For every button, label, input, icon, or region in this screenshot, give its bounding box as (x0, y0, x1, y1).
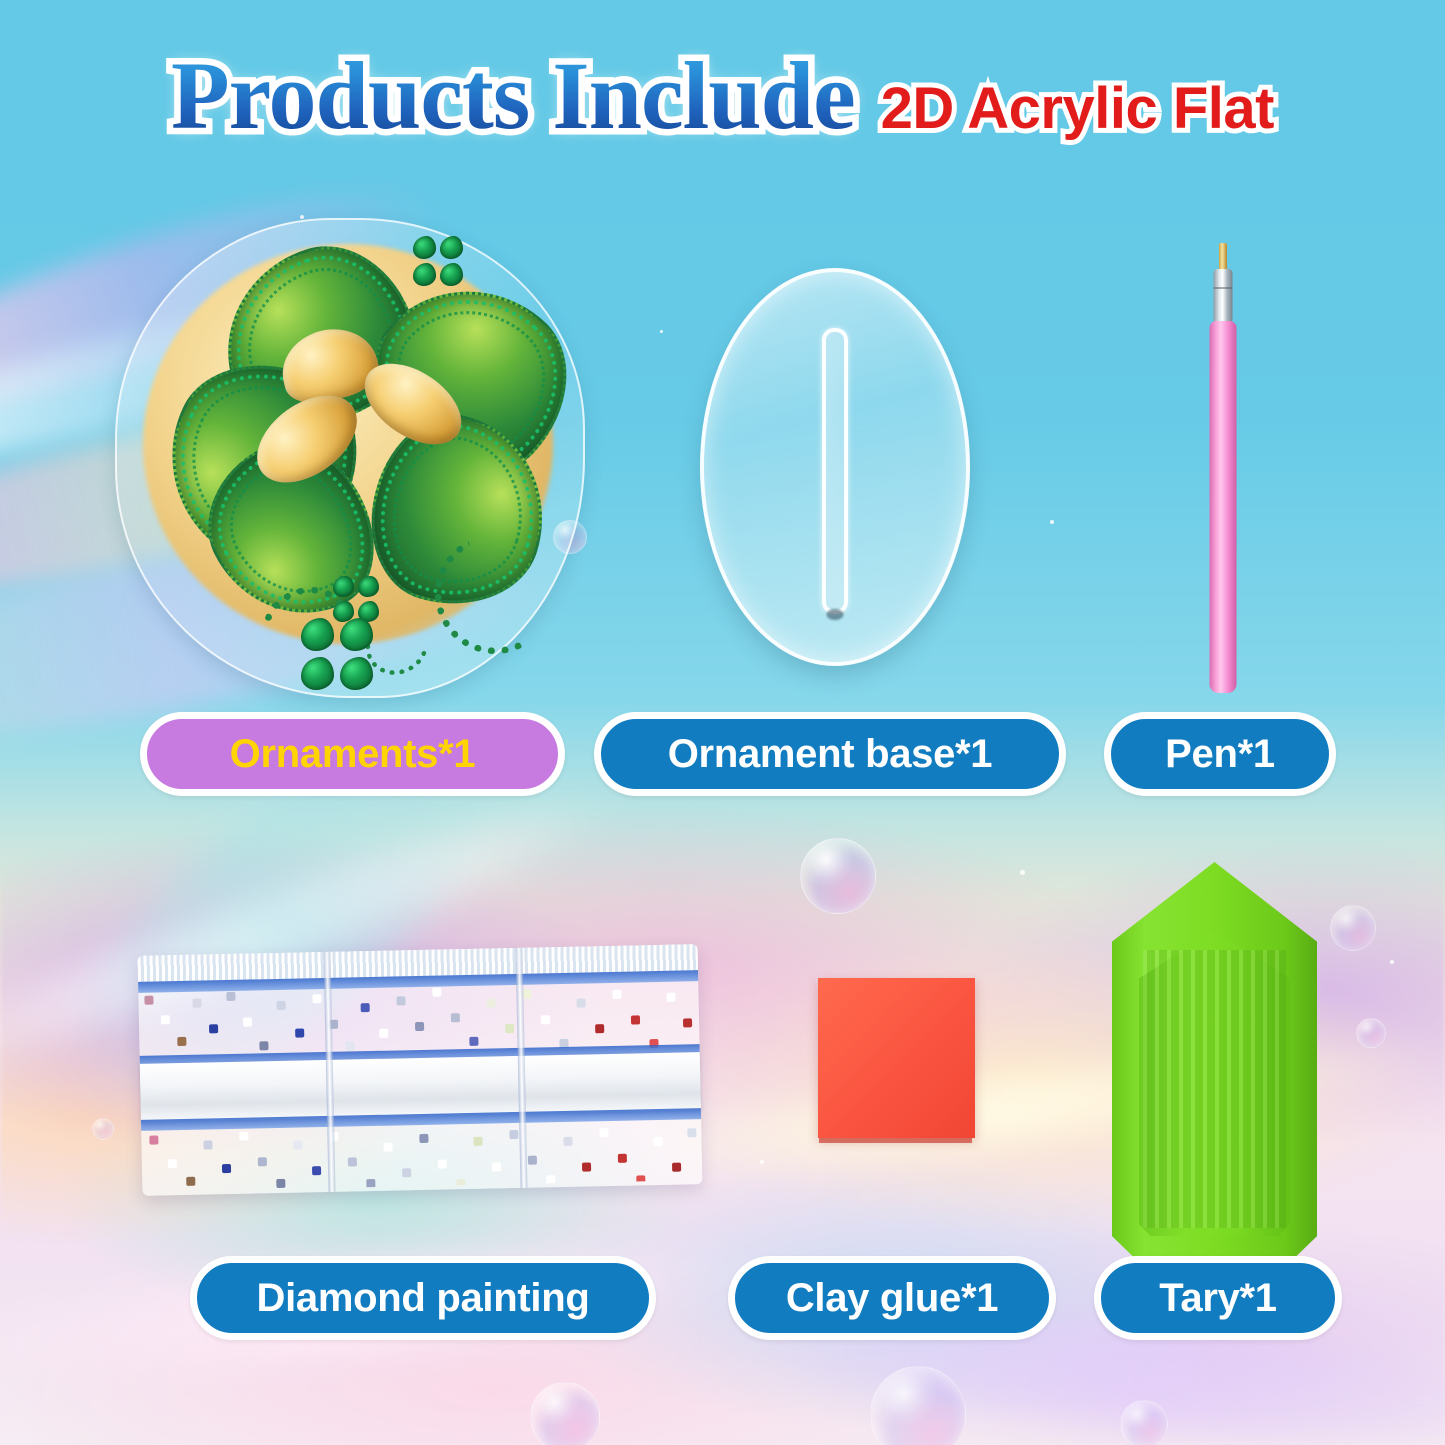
product-image-ornaments (115, 218, 585, 698)
product-image-tray (1112, 862, 1317, 1260)
sparkle (760, 1160, 764, 1164)
page-title: Products Include Products Include 2D Acr… (0, 48, 1445, 144)
bubble (800, 838, 876, 914)
bubble (530, 1382, 600, 1445)
drill-band-bottom (141, 1114, 702, 1192)
infographic-canvas: Products Include Products Include 2D Acr… (0, 0, 1445, 1445)
title-products-include: Products Include Products Include (171, 48, 855, 144)
bubble (1330, 905, 1376, 951)
label-pill-tary[interactable]: Tary*1 (1094, 1256, 1342, 1340)
bubble (1356, 1018, 1386, 1048)
pen-tip (1219, 243, 1227, 271)
label-pill-clay-glue[interactable]: Clay glue*1 (728, 1256, 1056, 1340)
bubble (1120, 1400, 1168, 1445)
sparkle (1050, 520, 1054, 524)
mini-clover (413, 236, 463, 286)
label-pill-diamond-painting-text: Diamond painting (257, 1276, 590, 1321)
tray-ribs (1143, 950, 1287, 1229)
base-slot (822, 328, 848, 614)
product-image-pen (1203, 243, 1243, 693)
title-2d-acrylic-flat-text: 2D Acrylic Flat (881, 76, 1274, 141)
base-slot-dot (827, 609, 844, 620)
pen-body (1210, 321, 1237, 693)
label-pill-ornaments[interactable]: Ornaments*1 (140, 712, 565, 796)
label-pill-diamond-painting[interactable]: Diamond painting (190, 1256, 656, 1340)
title-products-include-text: Products Include (171, 42, 855, 149)
product-image-clay-glue (818, 978, 975, 1138)
label-pill-tary-text: Tary*1 (1159, 1276, 1277, 1321)
sparkle (660, 330, 663, 333)
sparkle (1390, 960, 1394, 964)
bubble (92, 1118, 114, 1140)
title-2d-acrylic-flat: 2D Acrylic Flat 2D Acrylic Flat (881, 80, 1274, 138)
label-pill-ornaments-text: Ornaments*1 (230, 732, 476, 777)
label-pill-ornament-base[interactable]: Ornament base*1 (594, 712, 1066, 796)
sparkle (1020, 870, 1025, 875)
mini-clover (301, 618, 373, 690)
label-pill-pen[interactable]: Pen*1 (1104, 712, 1336, 796)
label-pill-ornament-base-text: Ornament base*1 (668, 732, 993, 777)
label-pill-clay-glue-text: Clay glue*1 (786, 1276, 998, 1321)
pen-ferrule (1214, 269, 1233, 325)
product-image-diamond-painting (138, 944, 703, 1196)
mini-clover (333, 576, 379, 622)
product-image-ornament-base (700, 268, 970, 666)
label-pill-pen-text: Pen*1 (1165, 732, 1275, 777)
